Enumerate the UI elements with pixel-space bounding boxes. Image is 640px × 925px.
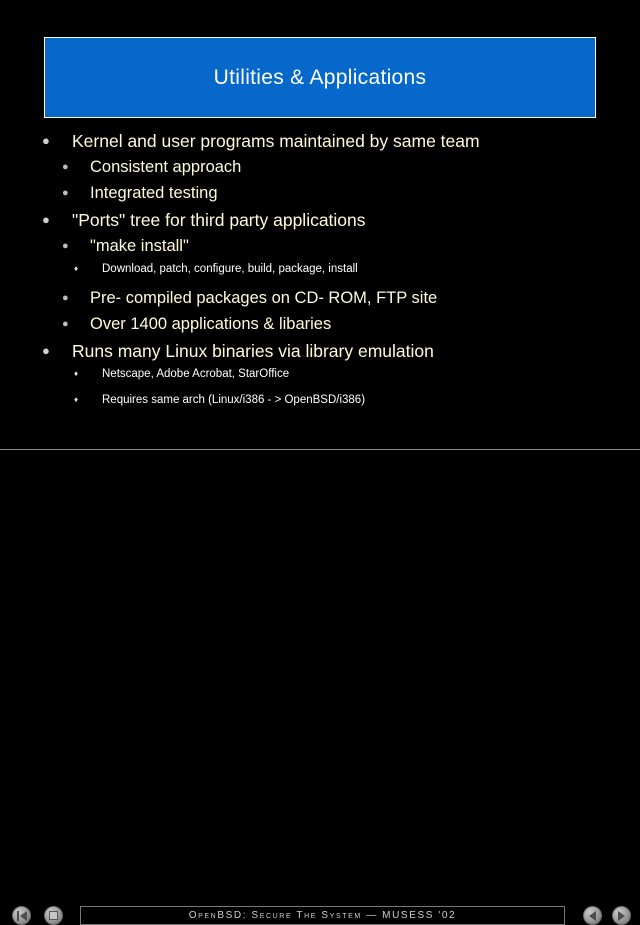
bullet-label: Consistent approach [90,158,241,177]
bullet-item: ●"Ports" tree for third party applicatio… [0,210,640,237]
disc-bullet-icon: ● [62,318,90,330]
stop-button[interactable] [44,906,63,925]
disc-bullet-icon: ● [42,212,72,227]
bullet-item: ●Kernel and user programs maintained by … [0,131,640,158]
skip-back-icon [17,911,27,921]
footer-title-text: OpenBSD: Secure The System — MUSESS '02 [189,910,456,921]
disc-bullet-icon: ● [62,187,90,199]
triangle-right-icon [618,911,625,921]
bullet-label: Runs many Linux binaries via library emu… [72,341,434,362]
bullet-item: ●"make install" [0,237,640,263]
bullet-label: Netscape, Adobe Acrobat, StarOffice [102,368,289,380]
diamond-bullet-icon: ♦ [74,369,102,378]
diamond-bullet-icon: ♦ [74,264,102,273]
bullet-item: ●Integrated testing [0,184,640,210]
bullet-label: "Ports" tree for third party application… [72,210,366,231]
bullet-item: ●Consistent approach [0,158,640,184]
first-slide-button[interactable] [12,906,31,925]
bullet-label: Over 1400 applications & libaries [90,315,331,334]
bullet-item: ●Over 1400 applications & libaries [0,315,640,341]
triangle-left-icon [589,911,596,921]
bullet-item: ♦Download, patch, configure, build, pack… [0,263,640,289]
previous-slide-button[interactable] [583,906,602,925]
disc-bullet-icon: ● [62,161,90,173]
bullet-label: Requires same arch (Linux/i386 - > OpenB… [102,394,365,406]
presentation-slide: Utilities & Applications ●Kernel and use… [0,0,640,480]
footer-toolbar: OpenBSD: Secure The System — MUSESS '02 [0,450,640,480]
diamond-bullet-icon: ♦ [74,395,102,404]
footer-title-bar: OpenBSD: Secure The System — MUSESS '02 [80,906,565,925]
stop-square-icon [49,911,58,920]
slide-title-banner: Utilities & Applications [44,37,596,118]
slide-body: ●Kernel and user programs maintained by … [0,131,640,420]
disc-bullet-icon: ● [62,240,90,252]
bullet-item: ●Runs many Linux binaries via library em… [0,341,640,368]
bullet-label: Kernel and user programs maintained by s… [72,131,480,152]
bullet-item: ♦Requires same arch (Linux/i386 - > Open… [0,394,640,420]
disc-bullet-icon: ● [62,292,90,304]
next-slide-button[interactable] [612,906,631,925]
disc-bullet-icon: ● [42,343,72,358]
bullet-label: Pre- compiled packages on CD- ROM, FTP s… [90,289,437,308]
disc-bullet-icon: ● [42,133,72,148]
bullet-item: ♦Netscape, Adobe Acrobat, StarOffice [0,368,640,394]
bullet-label: Download, patch, configure, build, packa… [102,263,358,275]
bullet-item: ●Pre- compiled packages on CD- ROM, FTP … [0,289,640,315]
bullet-label: Integrated testing [90,184,218,203]
bullet-label: "make install" [90,237,189,256]
page-title: Utilities & Applications [214,66,427,90]
